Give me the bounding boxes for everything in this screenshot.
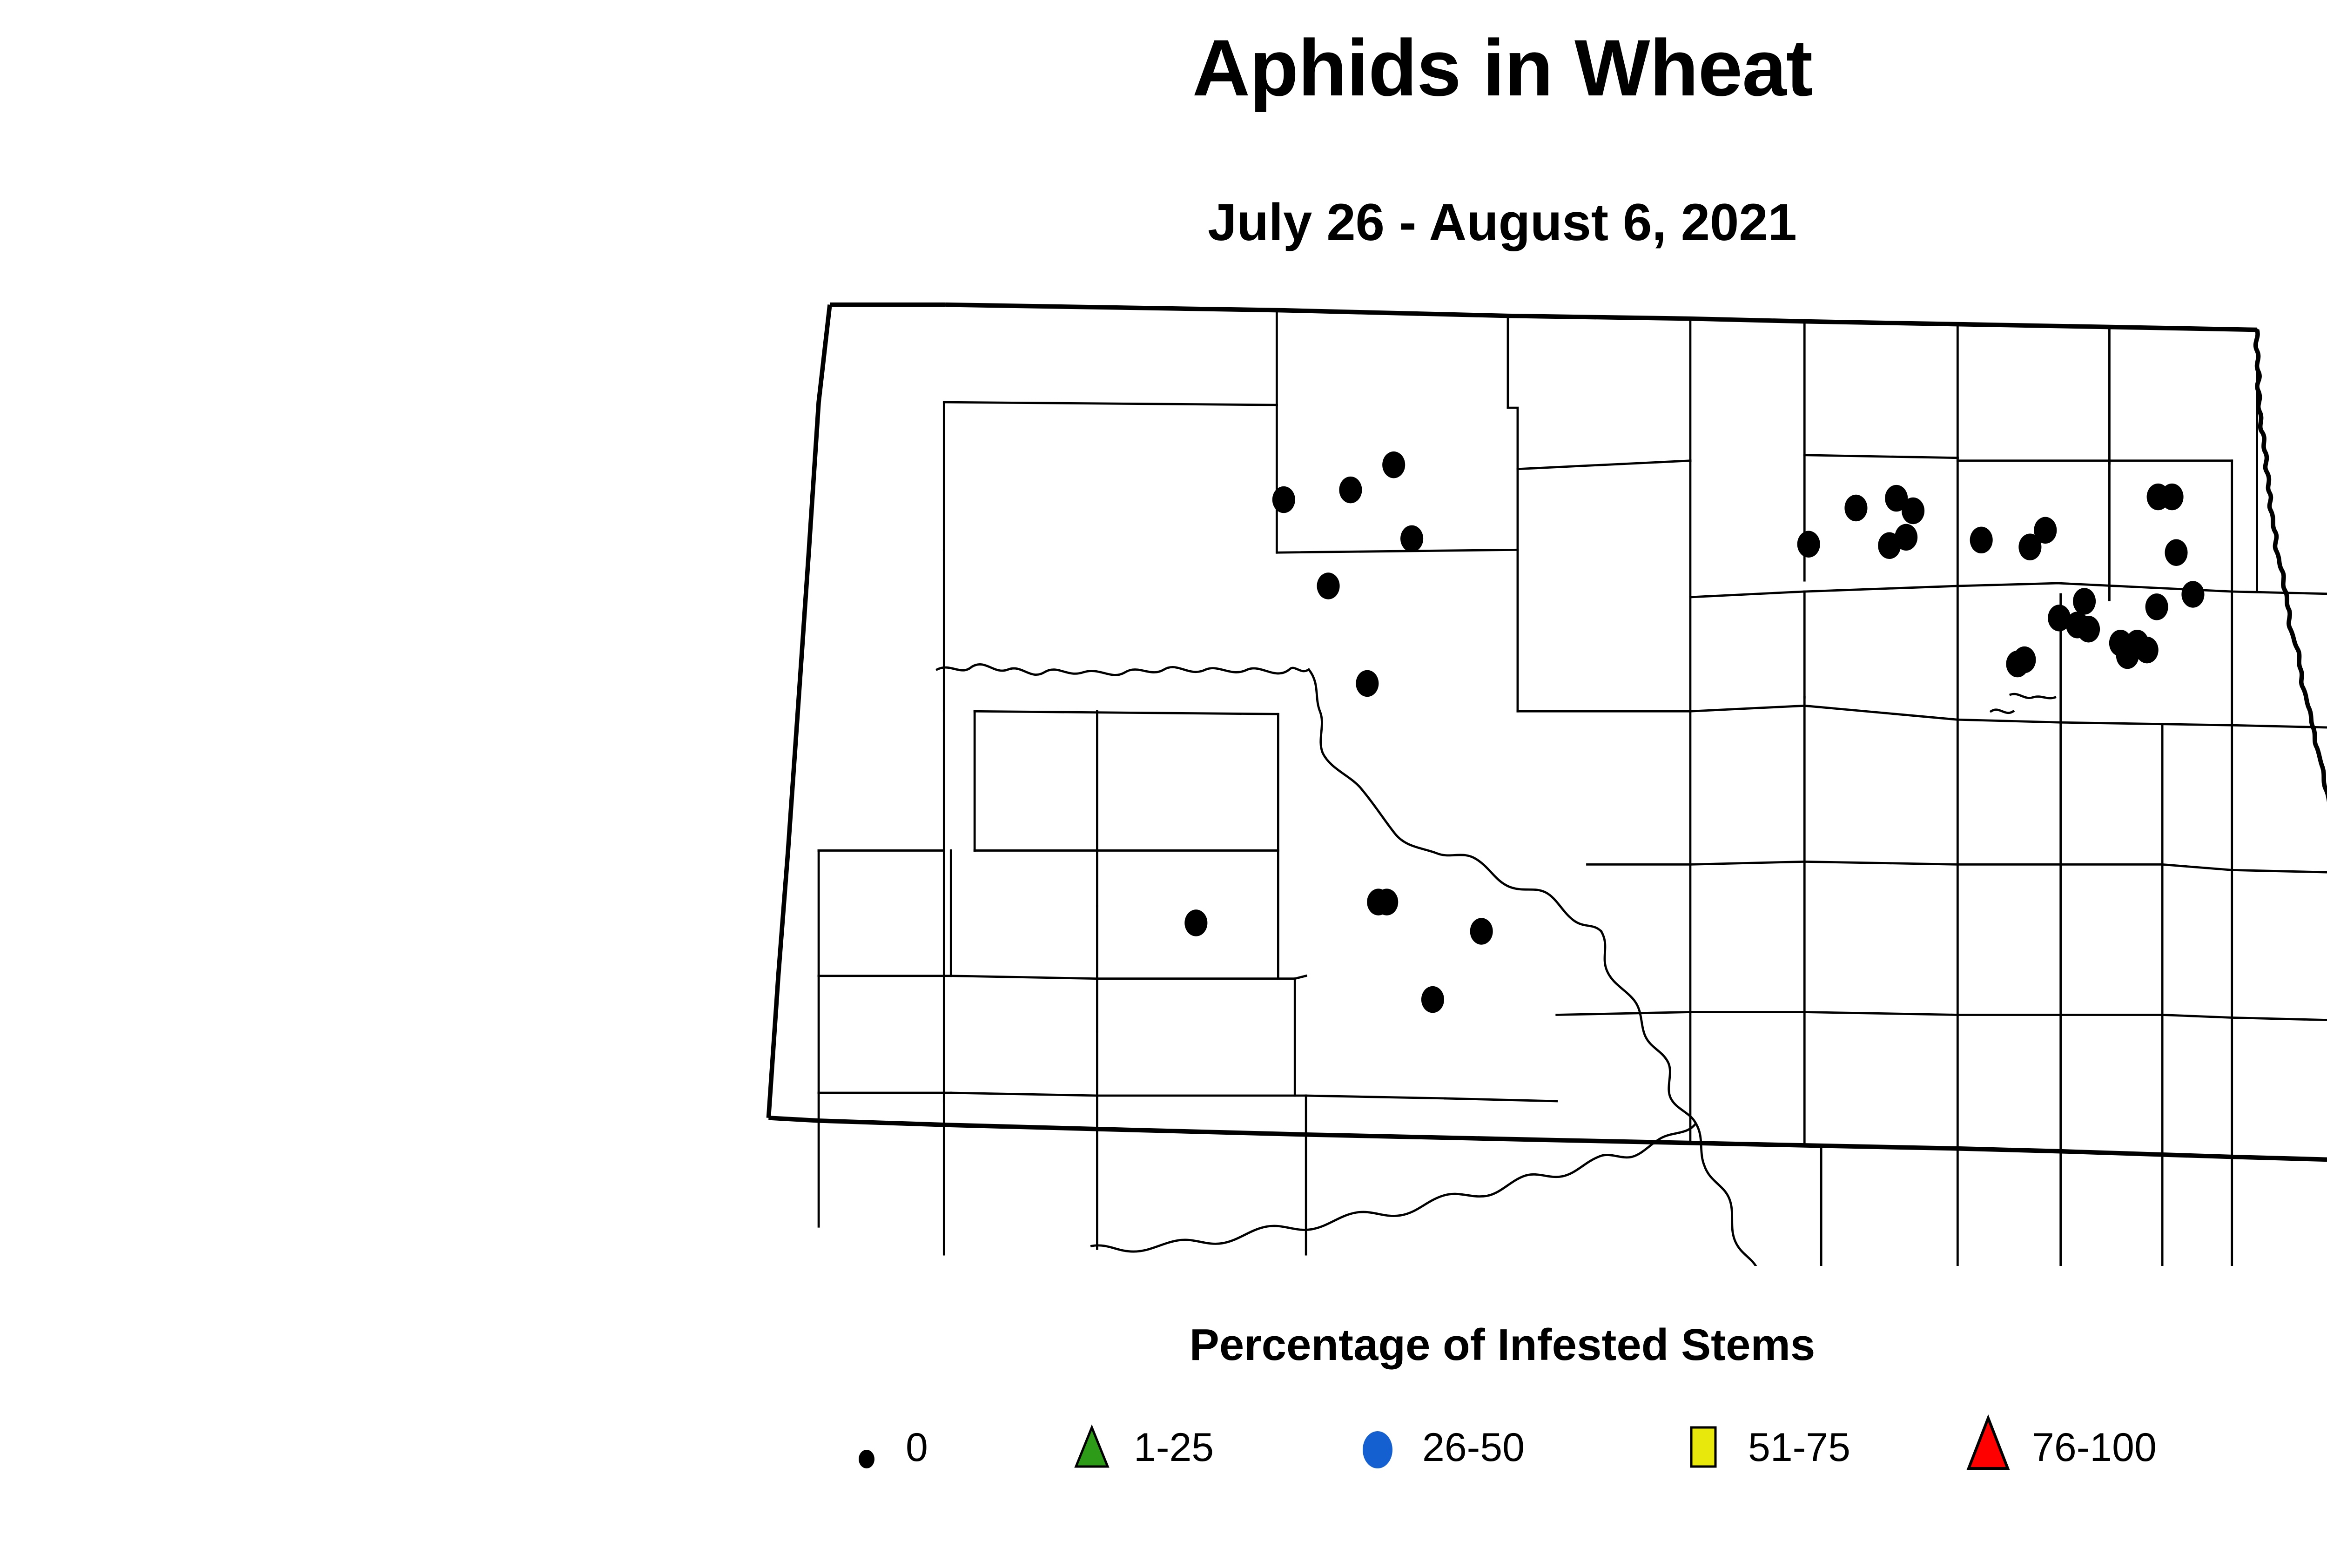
legend-symbol-circle-blue-icon bbox=[1350, 1408, 1419, 1487]
data-point[interactable] bbox=[1400, 525, 1423, 552]
data-point[interactable] bbox=[2034, 517, 2057, 544]
data-point[interactable] bbox=[2116, 642, 2139, 669]
map-page: Aphids in Wheat July 26 - August 6, 2021 bbox=[0, 0, 2327, 1568]
page-title: Aphids in Wheat bbox=[0, 28, 2327, 108]
legend-symbol-triangle-red-icon bbox=[1959, 1408, 2029, 1487]
legend-symbol-circle-small-icon bbox=[833, 1408, 903, 1487]
data-point[interactable] bbox=[2161, 484, 2184, 510]
legend-item-1[interactable]: 1-25 bbox=[1061, 1401, 1214, 1494]
data-point[interactable] bbox=[1797, 531, 1820, 558]
legend-label-3: 51-75 bbox=[1748, 1425, 1850, 1471]
legend-label-2: 26-50 bbox=[1422, 1425, 1525, 1471]
data-point-layer[interactable] bbox=[1184, 451, 2204, 1013]
data-point[interactable] bbox=[2181, 581, 2204, 607]
page-subtitle: July 26 - August 6, 2021 bbox=[0, 196, 2327, 249]
legend-label-4: 76-100 bbox=[2032, 1425, 2157, 1471]
data-point[interactable] bbox=[1895, 524, 1917, 551]
data-point[interactable] bbox=[2145, 593, 2168, 620]
legend-label-0: 0 bbox=[906, 1425, 928, 1471]
map-svg bbox=[666, 251, 2327, 1266]
data-point[interactable] bbox=[1902, 498, 1924, 524]
data-point[interactable] bbox=[2077, 616, 2100, 642]
legend: 0 1-25 26-50 51-75 bbox=[833, 1401, 2206, 1503]
legend-symbol-triangle-green-icon bbox=[1061, 1408, 1131, 1487]
data-point[interactable] bbox=[1375, 888, 1398, 915]
data-point[interactable] bbox=[2006, 651, 2029, 677]
data-point[interactable] bbox=[2136, 637, 2159, 663]
data-point[interactable] bbox=[1356, 670, 1379, 697]
data-point[interactable] bbox=[1184, 909, 1207, 936]
data-point[interactable] bbox=[2165, 539, 2188, 566]
data-point[interactable] bbox=[1272, 486, 1295, 513]
data-point[interactable] bbox=[1339, 477, 1362, 503]
data-point[interactable] bbox=[1382, 451, 1405, 478]
data-point[interactable] bbox=[2048, 605, 2071, 631]
legend-title: Percentage of Infested Stems bbox=[0, 1319, 2327, 1371]
legend-item-4[interactable]: 76-100 bbox=[1959, 1401, 2157, 1494]
legend-item-3[interactable]: 51-75 bbox=[1675, 1401, 1850, 1494]
legend-symbol-square-yellow-icon bbox=[1675, 1408, 1745, 1487]
north-dakota-map[interactable] bbox=[666, 251, 2327, 1266]
data-point[interactable] bbox=[1421, 986, 1444, 1013]
state-outline bbox=[768, 305, 2327, 1200]
data-point[interactable] bbox=[1470, 918, 1493, 944]
legend-label-1: 1-25 bbox=[1134, 1425, 1214, 1471]
data-point[interactable] bbox=[1844, 495, 1867, 521]
legend-item-2[interactable]: 26-50 bbox=[1350, 1401, 1525, 1494]
county-boundaries bbox=[819, 305, 2327, 1266]
data-point[interactable] bbox=[1317, 572, 1340, 599]
legend-item-0[interactable]: 0 bbox=[833, 1401, 928, 1494]
data-point[interactable] bbox=[1970, 527, 1993, 553]
data-point[interactable] bbox=[2073, 588, 2096, 614]
